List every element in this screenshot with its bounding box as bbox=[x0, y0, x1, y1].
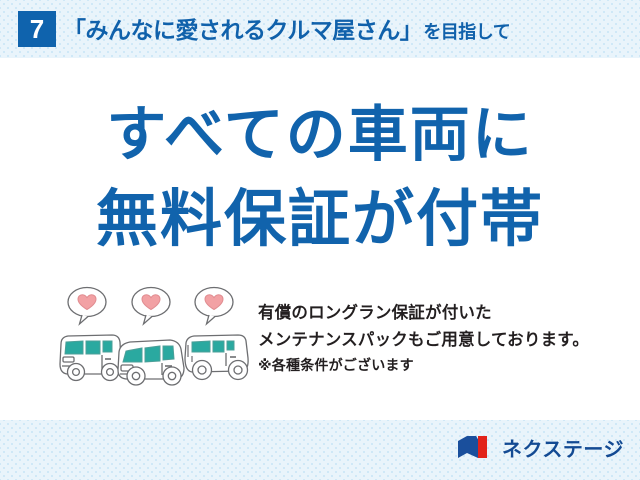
car-minivan bbox=[118, 340, 184, 385]
cars-illustration bbox=[52, 286, 257, 396]
headline-line-2: 無料保証が付帯 bbox=[0, 188, 640, 250]
body-copy: 有償のロングラン保証が付いた メンテナンスパックもご用意しております。 ※各種条… bbox=[258, 300, 628, 377]
section-number-label: 7 bbox=[30, 16, 44, 42]
heart-bubble-1 bbox=[68, 288, 106, 325]
headline-line-1: すべての車両に bbox=[0, 105, 640, 165]
header-title-main: 「みんなに愛されるクルマ屋さん」 bbox=[63, 11, 422, 45]
section-number-badge: 7 bbox=[18, 11, 56, 47]
car-kei-wagon bbox=[60, 335, 121, 381]
heart-bubble-3 bbox=[195, 288, 233, 325]
header-bar: 7 「みんなに愛されるクルマ屋さん」 を目指して bbox=[0, 0, 640, 58]
promo-banner: 7 「みんなに愛されるクルマ屋さん」 を目指して すべての車両に 無料保証が付帯 bbox=[0, 0, 640, 480]
lower-content: 有償のロングラン保証が付いた メンテナンスパックもご用意しております。 ※各種条… bbox=[0, 286, 640, 420]
nexstage-logo-text: ネクステージ bbox=[502, 433, 624, 462]
body-copy-line-1: 有償のロングラン保証が付いた bbox=[258, 300, 628, 327]
cars-svg bbox=[52, 286, 257, 396]
nexstage-logo-icon bbox=[456, 434, 496, 460]
header-title: 「みんなに愛されるクルマ屋さん」 を目指して bbox=[63, 11, 510, 47]
content-panel: すべての車両に 無料保証が付帯 bbox=[0, 58, 640, 420]
nexstage-logo: ネクステージ bbox=[456, 432, 624, 462]
header-title-tail: を目指して bbox=[423, 18, 510, 44]
car-suv bbox=[185, 335, 248, 380]
footer-bar: ネクステージ bbox=[0, 420, 640, 480]
body-copy-line-2: メンテナンスパックもご用意しております。 bbox=[258, 327, 628, 354]
body-copy-note: ※各種条件がございます bbox=[258, 354, 628, 377]
heart-bubble-2 bbox=[132, 288, 170, 325]
